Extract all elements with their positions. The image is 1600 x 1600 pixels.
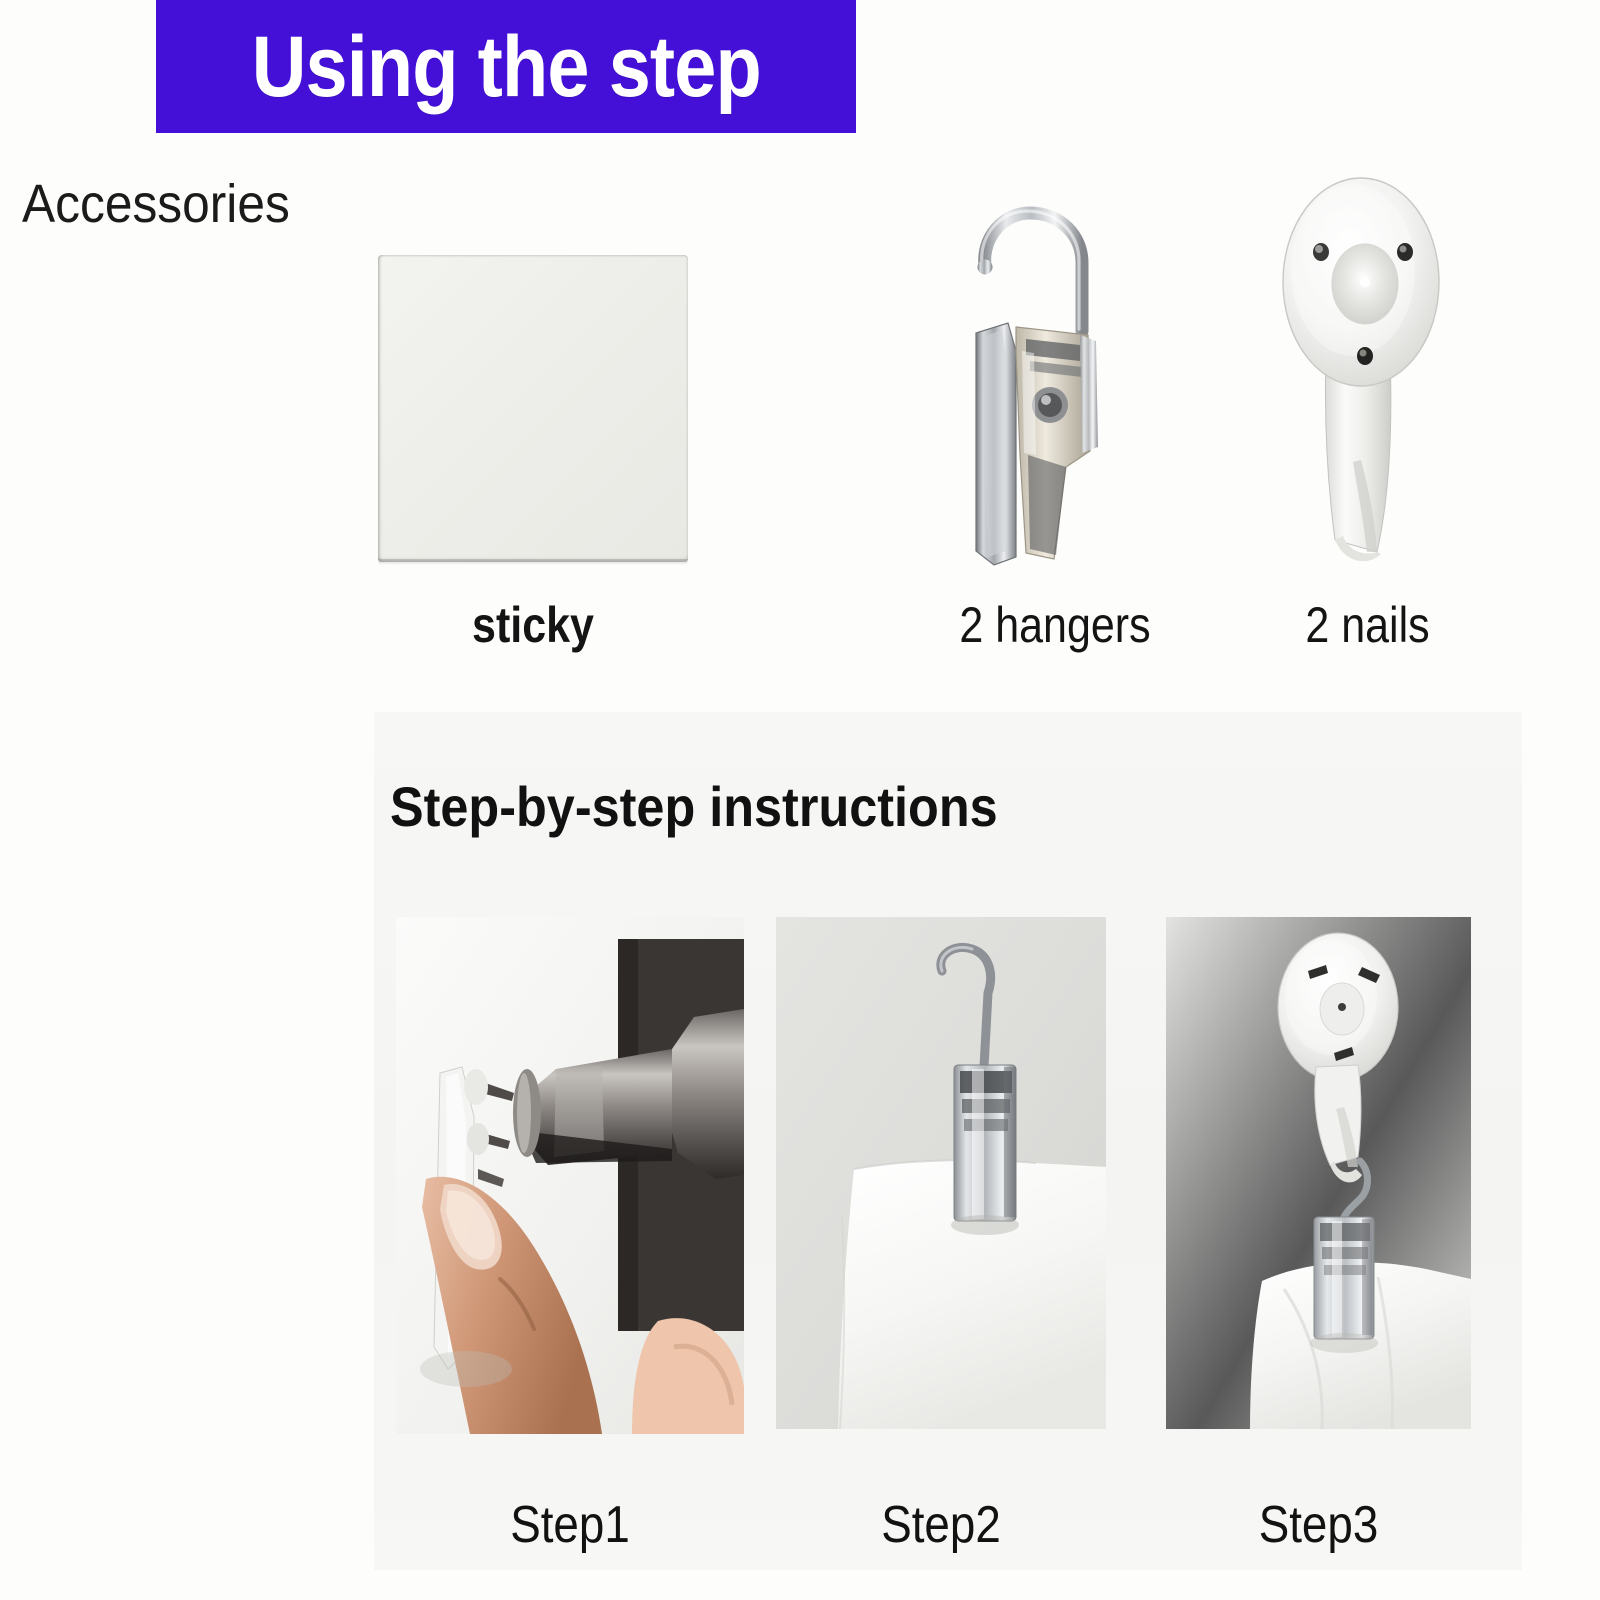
instructions-heading: Step-by-step instructions bbox=[390, 774, 998, 839]
title-banner: Using the step bbox=[156, 0, 856, 133]
step-caption-3: Step3 bbox=[1184, 1495, 1452, 1555]
nail-hook-icon bbox=[1265, 160, 1465, 575]
accessory-caption-hangers: 2 hangers bbox=[935, 596, 1176, 654]
step-caption-2: Step2 bbox=[796, 1495, 1086, 1555]
accessories-section-label: Accessories bbox=[22, 173, 290, 235]
step-photo-1 bbox=[396, 917, 744, 1434]
hanger-clip-icon bbox=[930, 155, 1140, 575]
step-photo-2 bbox=[776, 917, 1106, 1429]
step-photo-3 bbox=[1166, 917, 1471, 1429]
sticky-pad-icon bbox=[378, 255, 688, 562]
accessory-item-sticky bbox=[373, 250, 693, 570]
accessory-caption-nails: 2 nails bbox=[1275, 596, 1460, 654]
page-title: Using the step bbox=[251, 24, 760, 110]
instructions-panel: Step-by-step instructions bbox=[374, 712, 1522, 1570]
step-caption-1: Step1 bbox=[417, 1495, 723, 1555]
accessory-caption-sticky: sticky bbox=[395, 596, 670, 654]
accessory-item-nail bbox=[1265, 160, 1465, 575]
accessory-item-hanger bbox=[930, 155, 1140, 575]
